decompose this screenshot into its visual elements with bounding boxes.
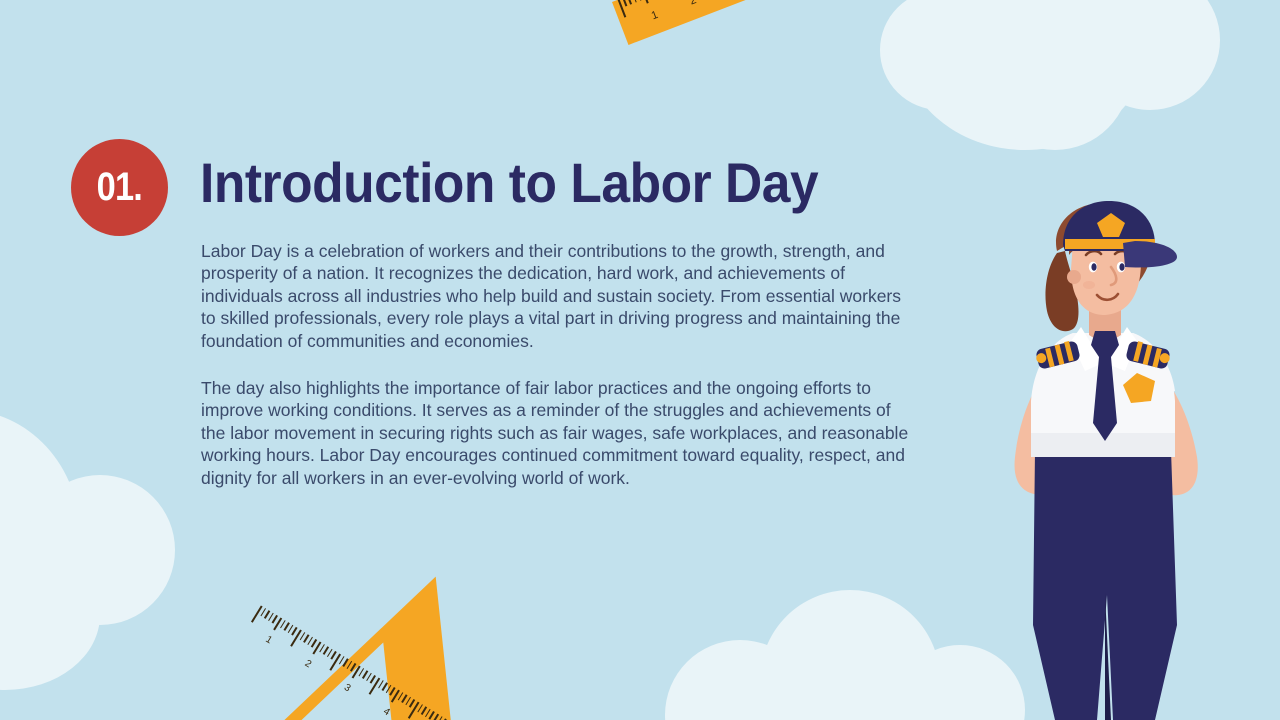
- ruler-tick: [637, 0, 642, 1]
- ruler-tick: [622, 0, 627, 6]
- paragraph-1: Labor Day is a celebration of workers an…: [201, 240, 913, 352]
- page-title: Introduction to Labor Day: [200, 150, 818, 215]
- cloud-top-right-icon: [880, 0, 1220, 180]
- set-square-number: 4: [381, 706, 391, 718]
- section-number-label: 01.: [97, 165, 142, 210]
- paragraph-2: The day also highlights the importance o…: [201, 377, 913, 489]
- pilot-illustration: [985, 195, 1225, 720]
- ruler-icon: 12345: [612, 0, 843, 45]
- ruler-tick: [632, 0, 637, 3]
- body-copy: Labor Day is a celebration of workers an…: [201, 240, 913, 489]
- set-square-icon: 12345: [137, 573, 492, 720]
- ruler-number: 2: [688, 0, 698, 8]
- set-square-number: 2: [303, 658, 313, 670]
- set-square-number: 1: [263, 634, 273, 646]
- pilot-svg: [985, 195, 1225, 720]
- slide-canvas: 12345 12345 01. Introduction to Labor Da…: [0, 0, 1280, 720]
- ruler-number: 1: [650, 9, 660, 22]
- ruler-tick: [627, 0, 632, 5]
- ruler-tick: [642, 0, 649, 4]
- set-square-tick: [437, 716, 443, 720]
- set-square-number: 3: [342, 682, 352, 694]
- section-number-badge: 01.: [71, 139, 168, 236]
